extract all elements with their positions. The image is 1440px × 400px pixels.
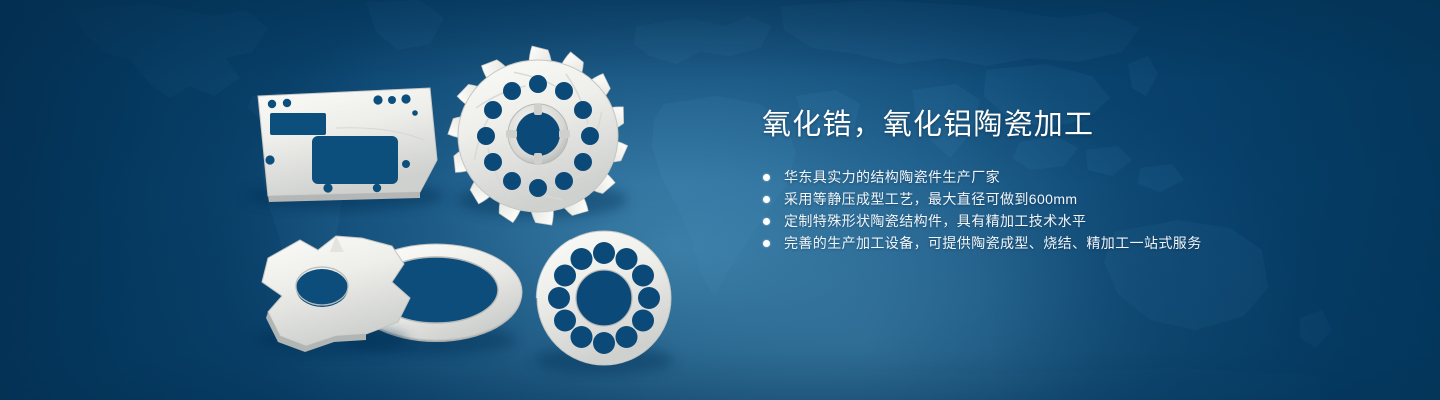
list-item-label: 定制特殊形状陶瓷结构件，具有精加工技术水平 [784,213,1086,229]
list-item: 定制特殊形状陶瓷结构件，具有精加工技术水平 [762,210,1382,232]
bullet-dot-icon [763,218,770,225]
list-item-label: 华东具实力的结构陶瓷件生产厂家 [784,169,1000,185]
bullet-dot-icon [763,196,770,203]
list-item-label: 采用等静压成型工艺，最大直径可做到600mm [784,191,1077,207]
bullet-dot-icon [763,174,770,181]
list-item-label: 完善的生产加工设备，可提供陶瓷成型、烧结、精加工一站式服务 [784,235,1202,251]
bullet-dot-icon [763,240,770,247]
list-item: 完善的生产加工设备，可提供陶瓷成型、烧结、精加工一站式服务 [762,232,1382,254]
page-title: 氧化锆，氧化铝陶瓷加工 [762,104,1382,146]
list-item: 采用等静压成型工艺，最大直径可做到600mm [762,188,1382,210]
feature-list: 华东具实力的结构陶瓷件生产厂家 采用等静压成型工艺，最大直径可做到600mm 定… [762,166,1382,254]
banner-copy: 氧化锆，氧化铝陶瓷加工 华东具实力的结构陶瓷件生产厂家 采用等静压成型工艺，最大… [762,104,1382,254]
hero-banner: 氧化锆，氧化铝陶瓷加工 华东具实力的结构陶瓷件生产厂家 采用等静压成型工艺，最大… [0,0,1440,400]
list-item: 华东具实力的结构陶瓷件生产厂家 [762,166,1382,188]
